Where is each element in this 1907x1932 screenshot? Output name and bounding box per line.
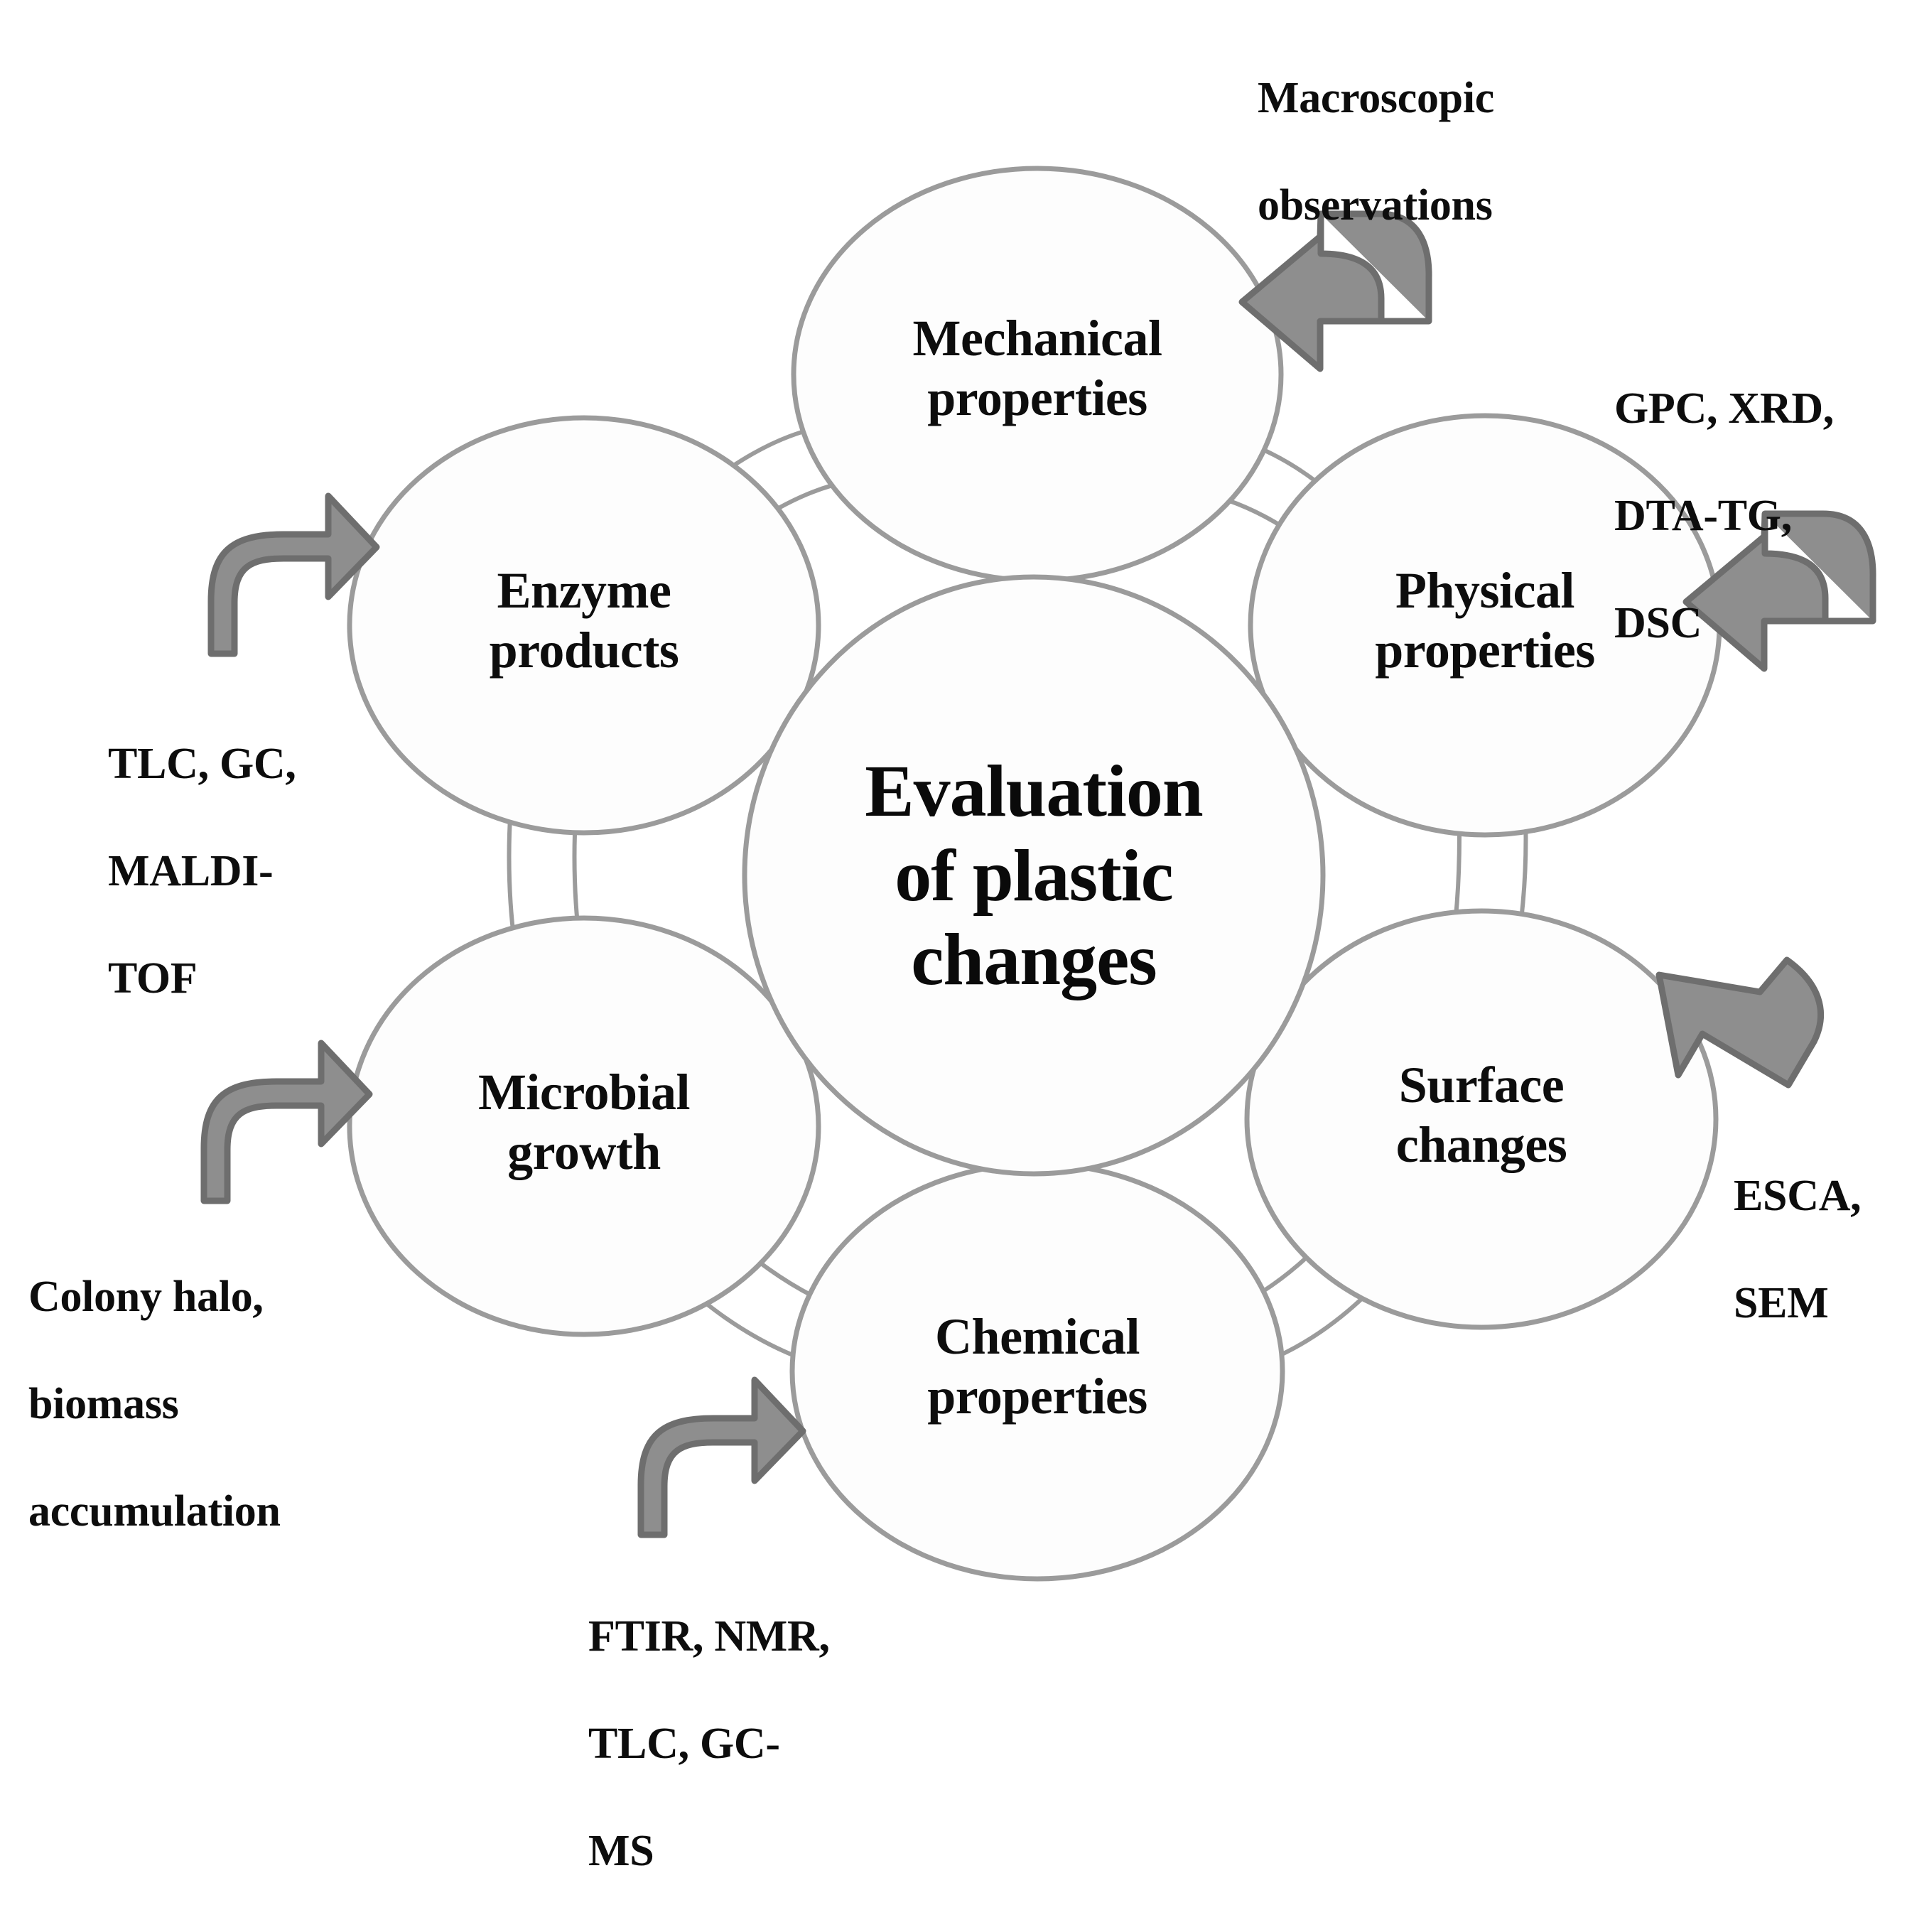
chemical-methods-line-3: MS — [588, 1825, 929, 1879]
chemical-methods-line-1: FTIR, NMR, — [588, 1610, 929, 1664]
diagram-canvas: Evaluation of plastic changes Mechanical… — [0, 0, 1907, 1728]
center-label-line-3: changes — [750, 918, 1318, 1003]
physical-methods-line-1: GPC, XRD, — [1614, 382, 1907, 436]
microbial-methods-line-3: accumulation — [28, 1485, 362, 1539]
node-label-enzyme-products: Enzyme products — [350, 561, 819, 680]
chemical-line-1: Chemical — [796, 1307, 1279, 1367]
node-label-chemical-properties: Chemical properties — [796, 1307, 1279, 1426]
chemical-methods-line-2: TLC, GC- — [588, 1717, 929, 1771]
surface-line-2: changes — [1247, 1116, 1716, 1175]
enzyme-methods-line-3: TOF — [108, 952, 392, 1006]
physical-methods-line-3: DSC — [1614, 597, 1907, 651]
surface-methods-line-2: SEM — [1734, 1277, 1907, 1331]
arrow-to-chemical-icon — [641, 1380, 803, 1535]
microbial-methods-line-1: Colony halo, — [28, 1270, 362, 1324]
annotation-microbial-methods: Colony halo, biomass accumulation — [28, 1216, 362, 1592]
physical-methods-line-2: DTA-TG, — [1614, 490, 1907, 544]
chemical-line-2: properties — [796, 1367, 1279, 1427]
enzyme-methods-line-1: TLC, GC, — [108, 738, 392, 792]
annotation-enzyme-methods: TLC, GC, MALDI- TOF — [108, 684, 392, 1059]
annotation-surface-methods: ESCA, SEM — [1734, 1116, 1907, 1384]
center-label-line-2: of plastic — [750, 834, 1318, 919]
annotation-chemical-methods: FTIR, NMR, TLC, GC- MS — [588, 1556, 929, 1932]
macroscopic-line-2: observations — [1258, 179, 1641, 233]
center-hub-label: Evaluation of plastic changes — [750, 750, 1318, 1003]
mechanical-line-1: Mechanical — [796, 309, 1279, 369]
annotation-physical-methods: GPC, XRD, DTA-TG, DSC — [1614, 328, 1907, 704]
node-label-mechanical-properties: Mechanical properties — [796, 309, 1279, 428]
enzyme-methods-line-2: MALDI- — [108, 845, 392, 899]
microbial-methods-line-2: biomass — [28, 1378, 362, 1432]
center-label-line-1: Evaluation — [750, 750, 1318, 834]
annotation-macroscopic-observations: Macroscopic observations — [1258, 18, 1641, 286]
arrow-to-microbial-icon — [204, 1043, 369, 1201]
microbial-line-1: Microbial — [350, 1063, 819, 1123]
microbial-line-2: growth — [350, 1123, 819, 1182]
mechanical-line-2: properties — [796, 369, 1279, 428]
surface-line-1: Surface — [1247, 1056, 1716, 1116]
surface-methods-line-1: ESCA, — [1734, 1170, 1907, 1224]
macroscopic-line-1: Macroscopic — [1258, 72, 1641, 126]
node-label-microbial-growth: Microbial growth — [350, 1063, 819, 1182]
enzyme-line-2: products — [350, 621, 819, 681]
node-label-surface-changes: Surface changes — [1247, 1056, 1716, 1175]
enzyme-line-1: Enzyme — [350, 561, 819, 621]
